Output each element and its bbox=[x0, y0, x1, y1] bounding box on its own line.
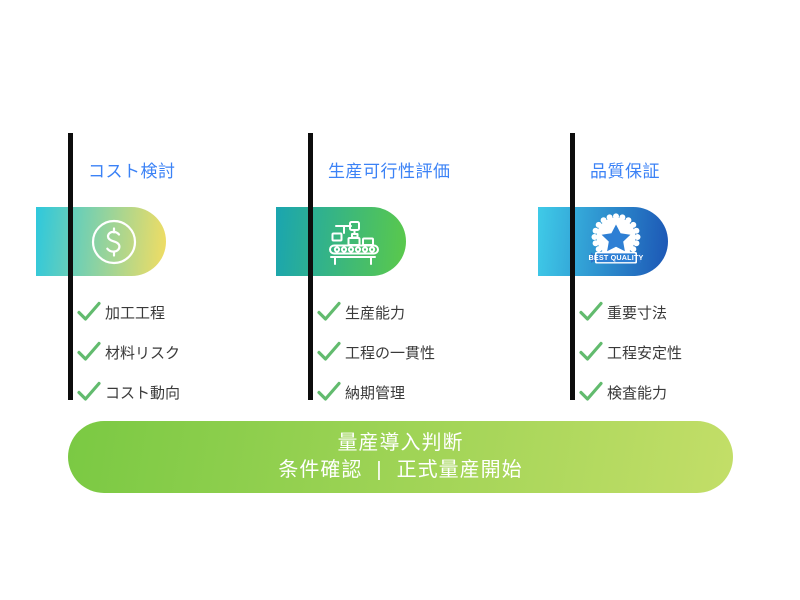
list-item-label: 納期管理 bbox=[345, 382, 405, 403]
check-icon bbox=[316, 339, 342, 365]
column-icon-pill bbox=[36, 207, 166, 276]
check-icon bbox=[578, 339, 604, 365]
list-item: 納期管理 bbox=[316, 372, 435, 412]
list-item-label: 加工工程 bbox=[105, 302, 165, 323]
check-icon bbox=[76, 339, 102, 365]
column-icon-pill: BEST QUALITY bbox=[538, 207, 668, 276]
list-item: 材料リスク bbox=[76, 332, 180, 372]
list-item-label: 工程安定性 bbox=[607, 342, 682, 363]
conveyor-belt-icon bbox=[326, 214, 382, 270]
banner-heading: 量産導入判断 bbox=[338, 430, 464, 457]
list-item: コスト動向 bbox=[76, 372, 180, 412]
list-item-label: 重要寸法 bbox=[607, 302, 667, 323]
check-icon bbox=[578, 379, 604, 405]
banner-massproduction-label: 正式量産開始 bbox=[397, 459, 523, 481]
list-item: 生産能力 bbox=[316, 292, 435, 332]
list-item: 工程安定性 bbox=[578, 332, 682, 372]
dollar-coin-icon bbox=[86, 214, 142, 270]
list-item: 検査能力 bbox=[578, 372, 682, 412]
check-icon bbox=[76, 379, 102, 405]
list-item-label: 生産能力 bbox=[345, 302, 405, 323]
banner-condition-label: 条件確認 bbox=[278, 459, 362, 481]
check-icon bbox=[316, 379, 342, 405]
summary-banner: 量産導入判断 条件確認|正式量産開始 bbox=[68, 421, 733, 493]
column-axis-line bbox=[570, 133, 575, 400]
list-item-label: 検査能力 bbox=[607, 382, 667, 403]
banner-subheading: 条件確認|正式量産開始 bbox=[278, 457, 522, 484]
list-item: 工程の一貫性 bbox=[316, 332, 435, 372]
check-icon bbox=[578, 299, 604, 325]
infographic-canvas: コスト検討 加工工程 材 bbox=[0, 0, 800, 600]
column-production-feasibility: 生産可行性評価 bbox=[276, 0, 526, 600]
list-item-label: 工程の一貫性 bbox=[345, 342, 435, 363]
column-axis-line bbox=[308, 133, 313, 400]
column-axis-line bbox=[68, 133, 73, 400]
list-item-label: コスト動向 bbox=[105, 382, 180, 403]
list-item: 重要寸法 bbox=[578, 292, 682, 332]
checklist: 加工工程 材料リスク コスト動向 bbox=[76, 292, 180, 412]
list-item: 加工工程 bbox=[76, 292, 180, 332]
list-item-label: 材料リスク bbox=[105, 342, 180, 363]
check-icon bbox=[316, 299, 342, 325]
best-quality-badge-icon: BEST QUALITY bbox=[588, 214, 644, 270]
column-title: 生産可行性評価 bbox=[328, 157, 451, 182]
checklist: 生産能力 工程の一貫性 納期管理 bbox=[316, 292, 435, 412]
column-title: 品質保証 bbox=[590, 157, 660, 182]
column-icon-pill bbox=[276, 207, 406, 276]
banner-separator: | bbox=[362, 459, 396, 481]
column-quality-assurance: 品質保証 bbox=[538, 0, 788, 600]
check-icon bbox=[76, 299, 102, 325]
column-cost-review: コスト検討 加工工程 材 bbox=[36, 0, 286, 600]
checklist: 重要寸法 工程安定性 検査能力 bbox=[578, 292, 682, 412]
badge-text: BEST QUALITY bbox=[588, 253, 643, 262]
column-title: コスト検討 bbox=[88, 157, 176, 182]
